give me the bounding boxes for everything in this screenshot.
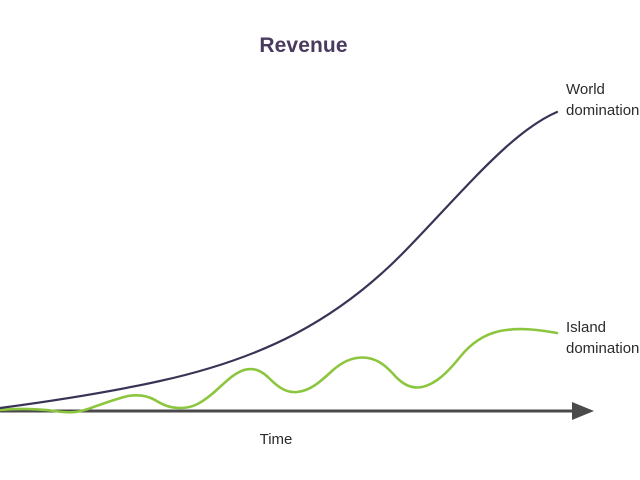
series-label-island-line1: Island	[566, 317, 639, 338]
series-label-world-line2: domination	[566, 100, 639, 121]
series-label-world-line1: World	[566, 79, 639, 100]
x-axis-arrow-icon	[572, 402, 594, 420]
series-label-world-domination: World domination	[566, 79, 639, 121]
chart-container: Revenue Time World domination Island dom…	[0, 0, 640, 480]
x-axis-label: Time	[216, 431, 336, 448]
series-line-world-domination	[0, 112, 557, 408]
chart-plot-area	[0, 0, 640, 480]
series-label-island-domination: Island domination	[566, 317, 639, 359]
series-label-island-line2: domination	[566, 338, 639, 359]
